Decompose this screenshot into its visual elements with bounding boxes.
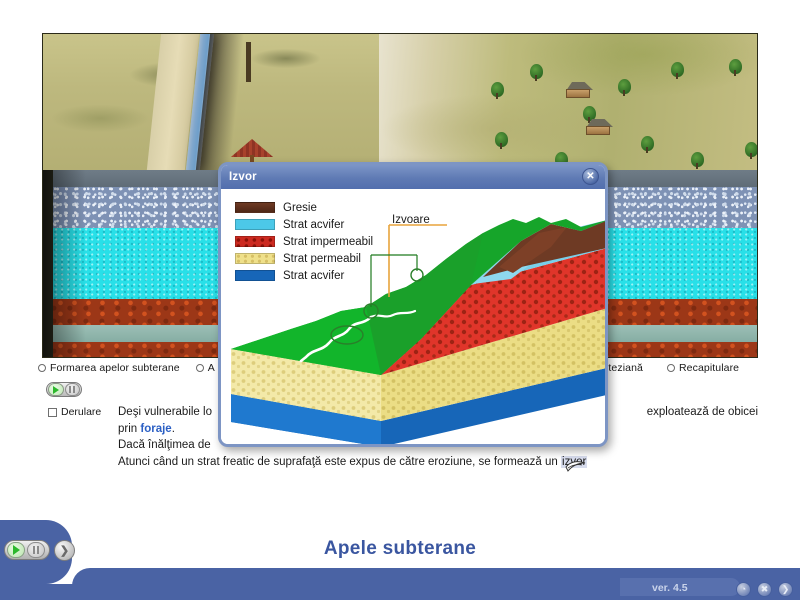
terrain-surface-right: [379, 34, 757, 170]
close-icon[interactable]: ✕: [582, 168, 599, 185]
radio-label: Formarea apelor subterane: [50, 362, 180, 374]
page-title: Apele subterane: [0, 538, 800, 560]
tree-icon: [641, 136, 654, 151]
tree-icon: [491, 82, 504, 97]
foraje-link[interactable]: foraje: [140, 423, 171, 435]
derulare-checkbox-row[interactable]: Derulare: [48, 406, 101, 418]
radio-recapitulare[interactable]: Recapitulare: [667, 362, 739, 374]
dialog-content: Gresie Strat acvifer Strat impermeabil S…: [221, 189, 605, 447]
radio-button-icon[interactable]: [196, 364, 204, 372]
tree-icon: [618, 79, 631, 94]
tree-icon: [745, 142, 758, 157]
derulare-checkbox[interactable]: [48, 408, 57, 417]
tree-icon: [671, 62, 684, 77]
text-line-4: Atunci când un strat freatic de suprafaţ…: [118, 454, 758, 471]
radio-formarea-apelor-subterane[interactable]: Formarea apelor subterane: [38, 362, 180, 374]
derulare-label: Derulare: [61, 406, 101, 418]
tree-icon: [495, 132, 508, 147]
next-icon[interactable]: ❯: [778, 582, 793, 597]
hand-cursor-icon: [565, 458, 587, 476]
radio-button-icon[interactable]: [38, 364, 46, 372]
play-button[interactable]: [48, 383, 64, 396]
playback-toggle[interactable]: [46, 382, 82, 397]
clock-icon[interactable]: ◔: [736, 582, 751, 597]
dialog-title: Izvor: [229, 171, 257, 183]
izvor-dialog[interactable]: Izvor ✕ Gresie Strat acvifer Strat imper…: [218, 162, 608, 447]
spring-block-diagram: [221, 189, 608, 447]
house-icon: [583, 119, 613, 135]
fence-pole: [246, 42, 251, 82]
tree-icon: [729, 59, 742, 74]
radio-button-icon[interactable]: [667, 364, 675, 372]
tools-icon[interactable]: ✖: [757, 582, 772, 597]
tree-icon: [691, 152, 704, 167]
version-label: ver. 4.5: [652, 582, 688, 594]
radio-label: A: [208, 362, 215, 374]
radio-label: Recapitulare: [679, 362, 739, 374]
izvoare-annotation-label: Izvoare: [392, 214, 430, 226]
pause-button[interactable]: [65, 383, 81, 396]
bottom-right-icons: ◔ ✖ ❯: [736, 582, 793, 597]
radio-hidden-option[interactable]: A: [196, 362, 215, 374]
dialog-title-bar[interactable]: Izvor ✕: [221, 165, 605, 189]
tree-icon: [530, 64, 543, 79]
application-window: Formarea apelor subterane A Apa artezian…: [0, 0, 800, 600]
house-icon: [563, 82, 593, 98]
